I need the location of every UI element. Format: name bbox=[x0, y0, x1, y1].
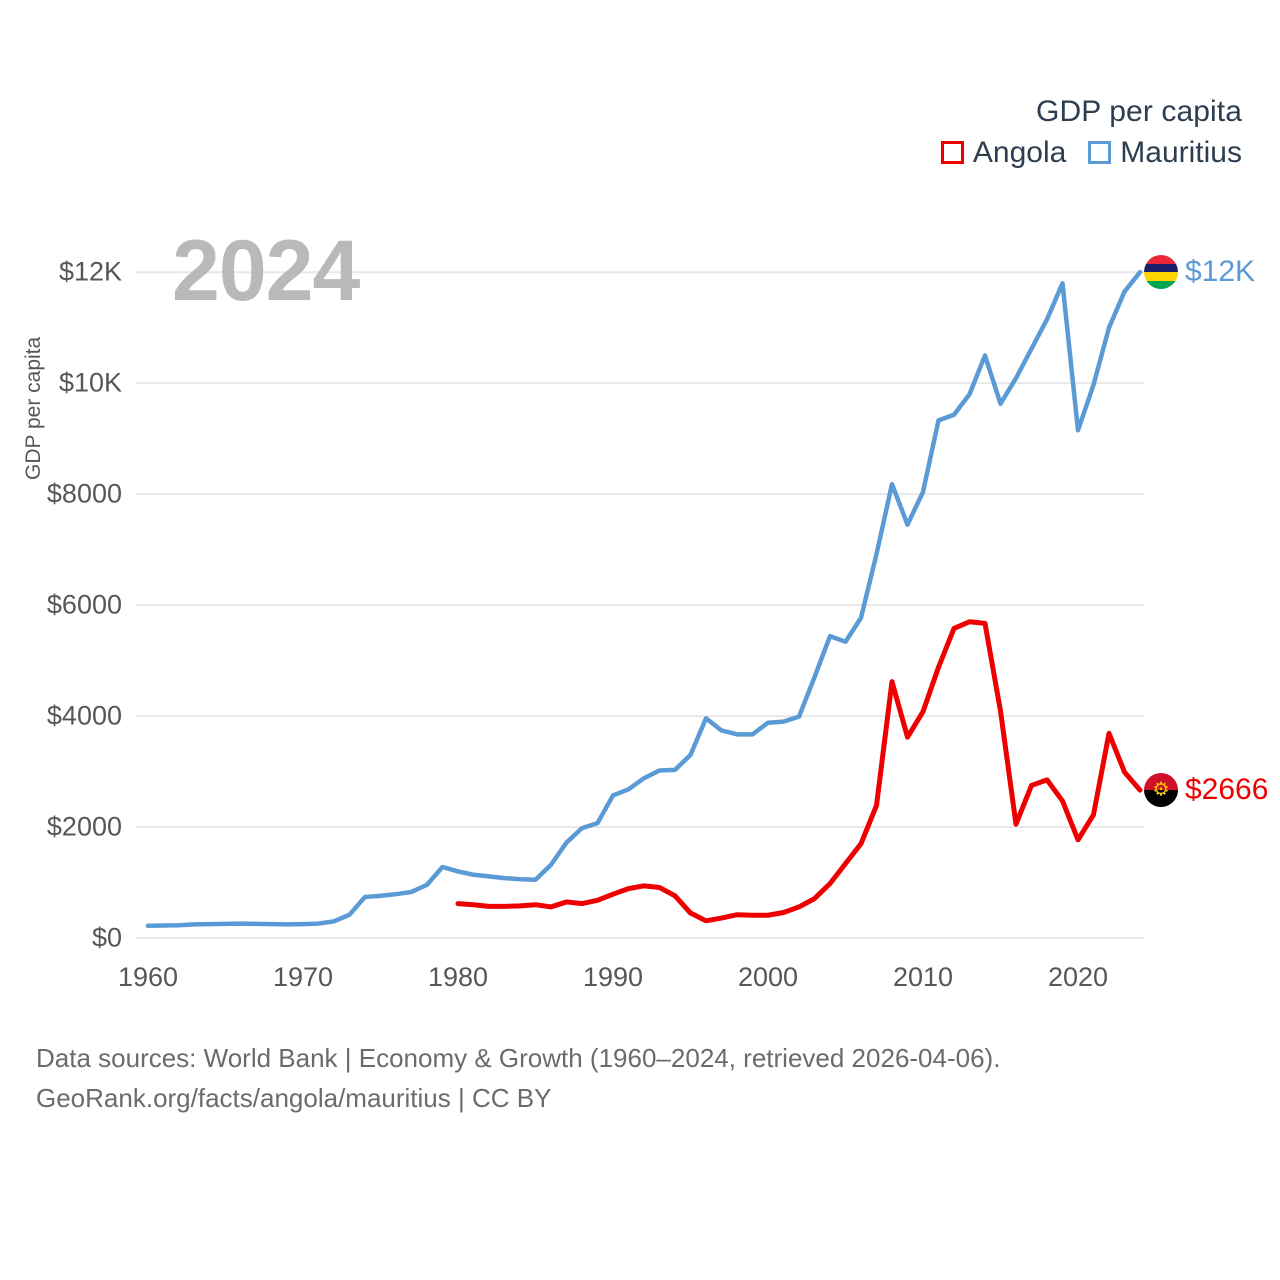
y-axis-ticks: $0$2000$4000$6000$8000$10K$12K bbox=[0, 0, 140, 1030]
angola-flag-icon: ⚙ bbox=[1144, 773, 1178, 807]
y-axis-title: GDP per capita bbox=[22, 337, 46, 480]
y-tick-label: $4000 bbox=[0, 701, 140, 732]
y-tick-label: $8000 bbox=[0, 479, 140, 510]
x-tick-label: 1970 bbox=[273, 962, 333, 993]
y-tick-label: $6000 bbox=[0, 590, 140, 621]
footer-line-2: GeoRank.org/facts/angola/mauritius | CC … bbox=[36, 1078, 1000, 1118]
mauritius-flag-icon bbox=[1144, 255, 1178, 289]
plot-area: 2024 $0$2000$4000$6000$8000$10K$12K GDP … bbox=[0, 0, 1280, 1030]
chart-page: GDP per capita Angola Mauritius 2024 $0$… bbox=[0, 0, 1280, 1280]
series-line-angola bbox=[458, 622, 1140, 921]
x-tick-label: 1960 bbox=[118, 962, 178, 993]
end-value-angola: $2666 bbox=[1185, 775, 1268, 805]
x-tick-label: 2020 bbox=[1048, 962, 1108, 993]
x-tick-label: 2010 bbox=[893, 962, 953, 993]
y-tick-label: $10K bbox=[0, 368, 140, 399]
y-tick-label: $12K bbox=[0, 257, 140, 288]
chart-svg bbox=[0, 0, 1280, 1030]
year-watermark: 2024 bbox=[172, 228, 359, 314]
footer-line-1: Data sources: World Bank | Economy & Gro… bbox=[36, 1038, 1000, 1078]
end-value-mauritius: $12K bbox=[1185, 257, 1255, 287]
footer-attribution: Data sources: World Bank | Economy & Gro… bbox=[36, 1038, 1000, 1119]
x-tick-label: 1980 bbox=[428, 962, 488, 993]
y-tick-label: $2000 bbox=[0, 812, 140, 843]
gridlines bbox=[136, 272, 1144, 938]
y-tick-label: $0 bbox=[0, 923, 140, 954]
end-label-mauritius: $12K bbox=[1144, 255, 1255, 289]
x-tick-label: 2000 bbox=[738, 962, 798, 993]
end-label-angola: ⚙ $2666 bbox=[1144, 773, 1268, 807]
x-tick-label: 1990 bbox=[583, 962, 643, 993]
